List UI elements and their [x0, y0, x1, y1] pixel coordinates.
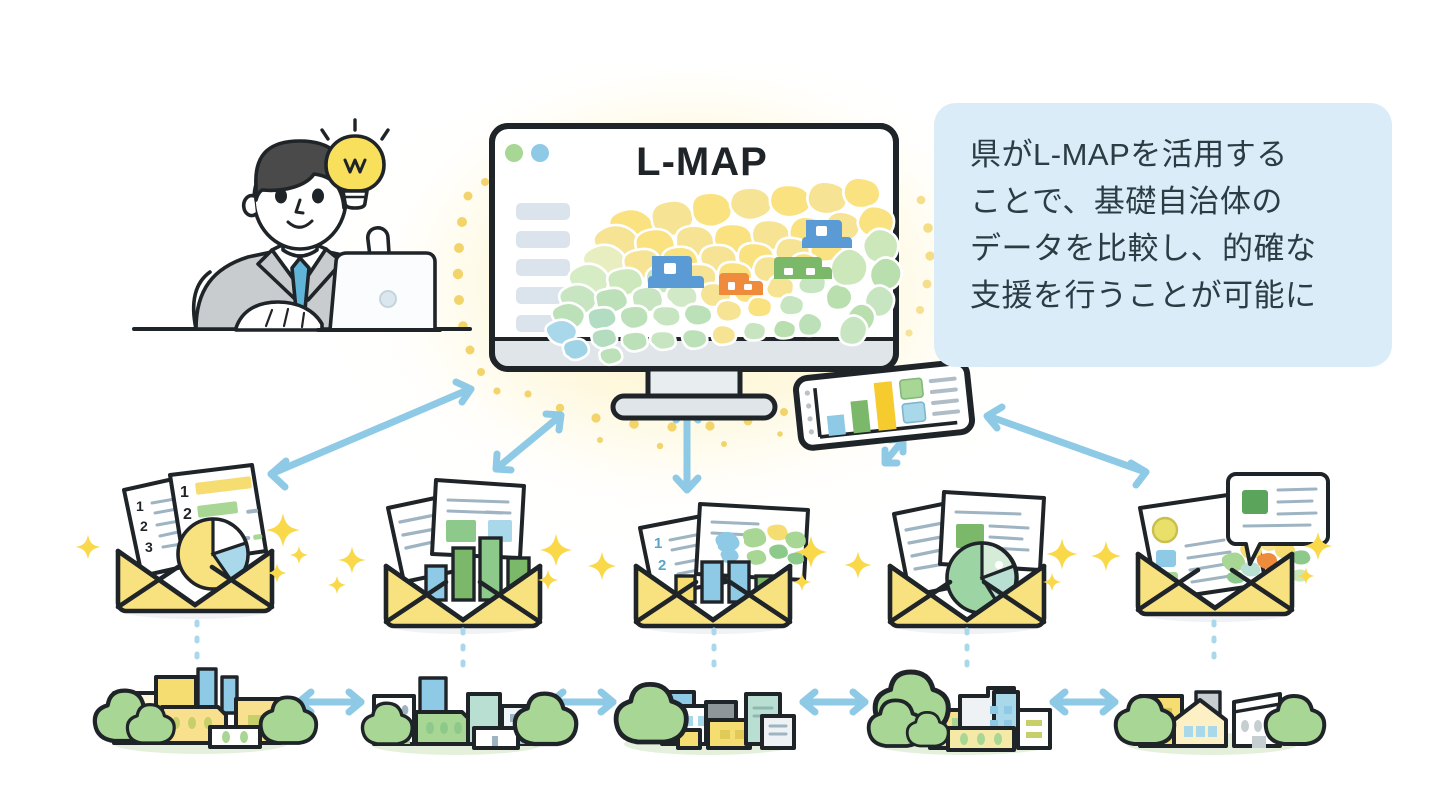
municipality-town-1[interactable]: [95, 669, 316, 754]
municipality-town-5[interactable]: [1116, 692, 1325, 755]
tree-2: [515, 694, 576, 744]
callout-line-2: ことで、基礎自治体の: [970, 178, 1362, 225]
municipality-town-3[interactable]: [616, 684, 796, 755]
building-d: [1018, 710, 1050, 748]
callout-line-3: データを比較し、的確な: [970, 225, 1362, 272]
building-e: [210, 727, 260, 747]
commentary-callout: 県がL-MAPを活用する ことで、基礎自治体の データを比較し、的確な 支援を行…: [934, 103, 1392, 367]
municipality-town-4[interactable]: [869, 672, 1052, 755]
building-g: [762, 716, 794, 748]
municipality-town-2[interactable]: [362, 678, 576, 755]
infographic-canvas: L-MAP: [0, 0, 1440, 810]
callout-line-1: 県がL-MAPを活用する: [970, 131, 1362, 178]
callout-line-4: 支援を行うことが可能に: [970, 272, 1362, 319]
